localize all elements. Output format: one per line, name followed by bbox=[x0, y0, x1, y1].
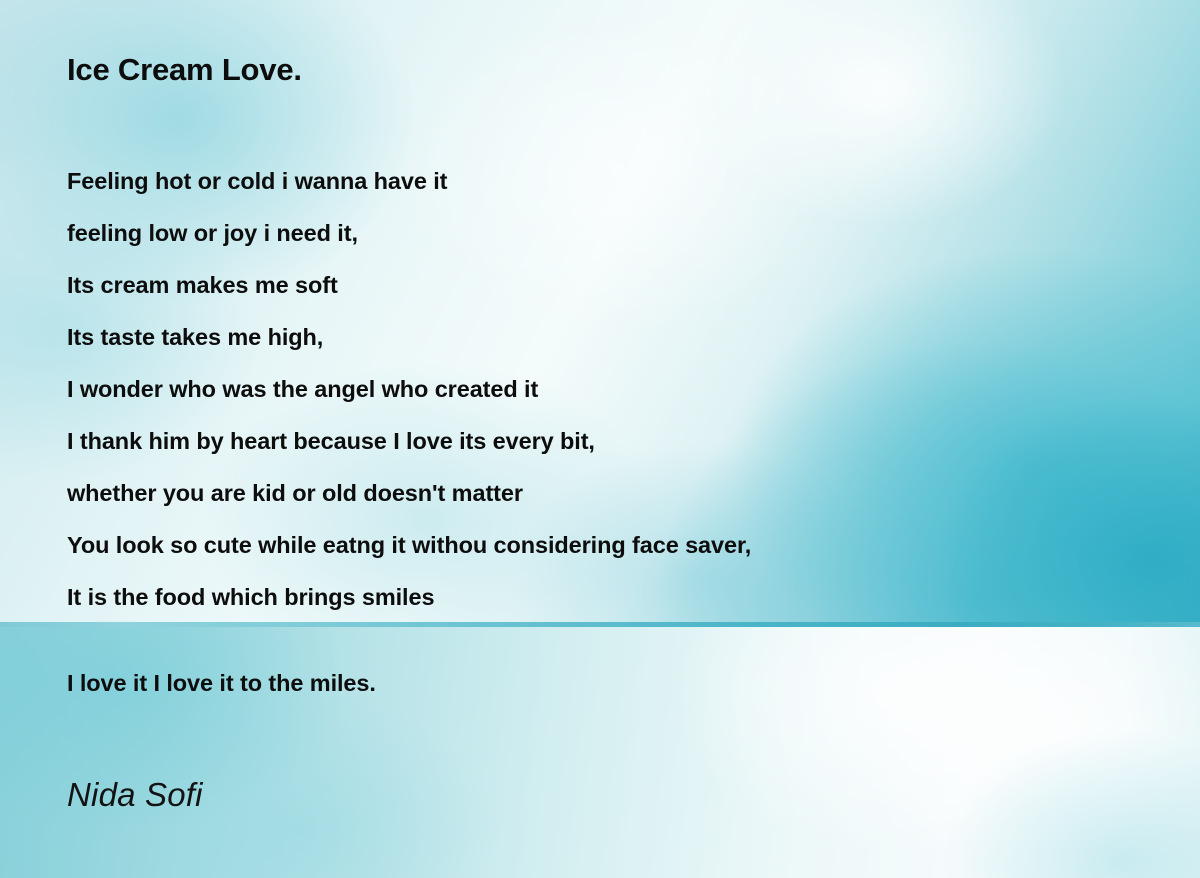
poem-author-signature: Nida Sofi bbox=[67, 775, 203, 815]
poem-title: Ice Cream Love. bbox=[67, 52, 302, 88]
poem-body: Feeling hot or cold i wanna have it feel… bbox=[67, 155, 1167, 623]
poem-closing-line: I love it I love it to the miles. bbox=[67, 666, 376, 700]
poem-line: feeling low or joy i need it, bbox=[67, 207, 1167, 259]
poem-line: whether you are kid or old doesn't matte… bbox=[67, 467, 1167, 519]
poem-line: It is the food which brings smiles bbox=[67, 571, 1167, 623]
poem-line: Its cream makes me soft bbox=[67, 259, 1167, 311]
poem-line: Its taste takes me high, bbox=[67, 311, 1167, 363]
poem-line: I wonder who was the angel who created i… bbox=[67, 363, 1167, 415]
poem-image-card: Ice Cream Love. Feeling hot or cold i wa… bbox=[0, 0, 1200, 878]
poem-line: Feeling hot or cold i wanna have it bbox=[67, 155, 1167, 207]
poem-text-layer: Ice Cream Love. Feeling hot or cold i wa… bbox=[0, 0, 1200, 878]
poem-line: I thank him by heart because I love its … bbox=[67, 415, 1167, 467]
poem-line: You look so cute while eatng it withou c… bbox=[67, 519, 1167, 571]
